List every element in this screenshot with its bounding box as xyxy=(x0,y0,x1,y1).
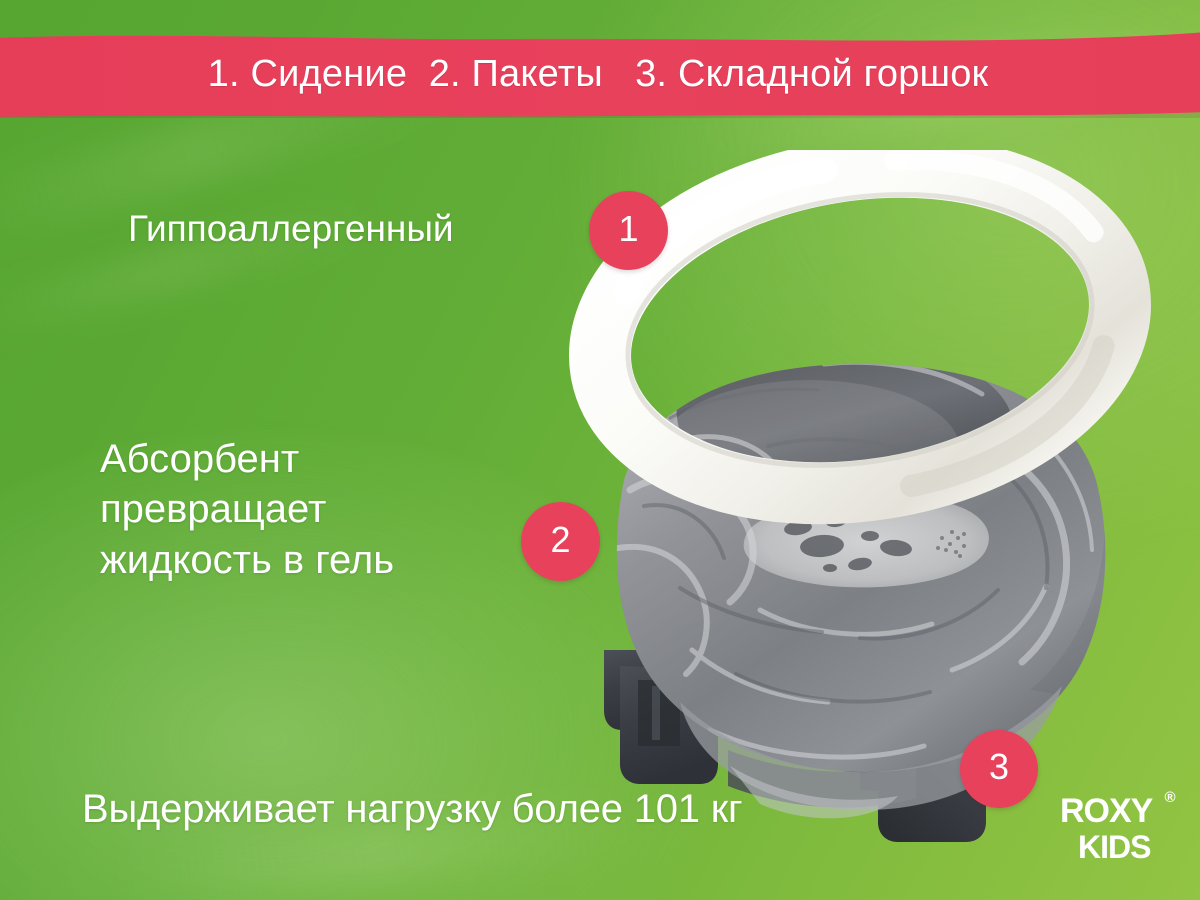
header-banner: 1. Сидение 2. Пакеты 3. Складной горшок xyxy=(0,30,1200,118)
feature-hypoallergenic: Гиппоаллергенный xyxy=(128,206,454,253)
brand-logo-roxy-kids: ROXY ® KIDS xyxy=(1060,786,1186,864)
callout-badge-3-label: 3 xyxy=(989,749,1009,785)
registered-trademark-icon: ® xyxy=(1164,789,1175,806)
brand-logo-line2: KIDS xyxy=(1078,829,1151,864)
brand-logo-line1: ROXY xyxy=(1060,792,1154,830)
header-banner-text: 1. Сидение 2. Пакеты 3. Складной горшок xyxy=(0,30,1194,118)
feature-absorbent: Абсорбент превращает жидкость в гель xyxy=(100,434,394,585)
callout-badge-2: 2 xyxy=(521,502,600,581)
callout-badge-2-label: 2 xyxy=(550,522,570,558)
callout-badge-3: 3 xyxy=(960,730,1038,808)
callout-badge-1: 1 xyxy=(589,191,668,270)
infographic-slide: 1. Сидение 2. Пакеты 3. Складной горшок xyxy=(0,0,1200,900)
callout-badge-1-label: 1 xyxy=(618,211,638,247)
